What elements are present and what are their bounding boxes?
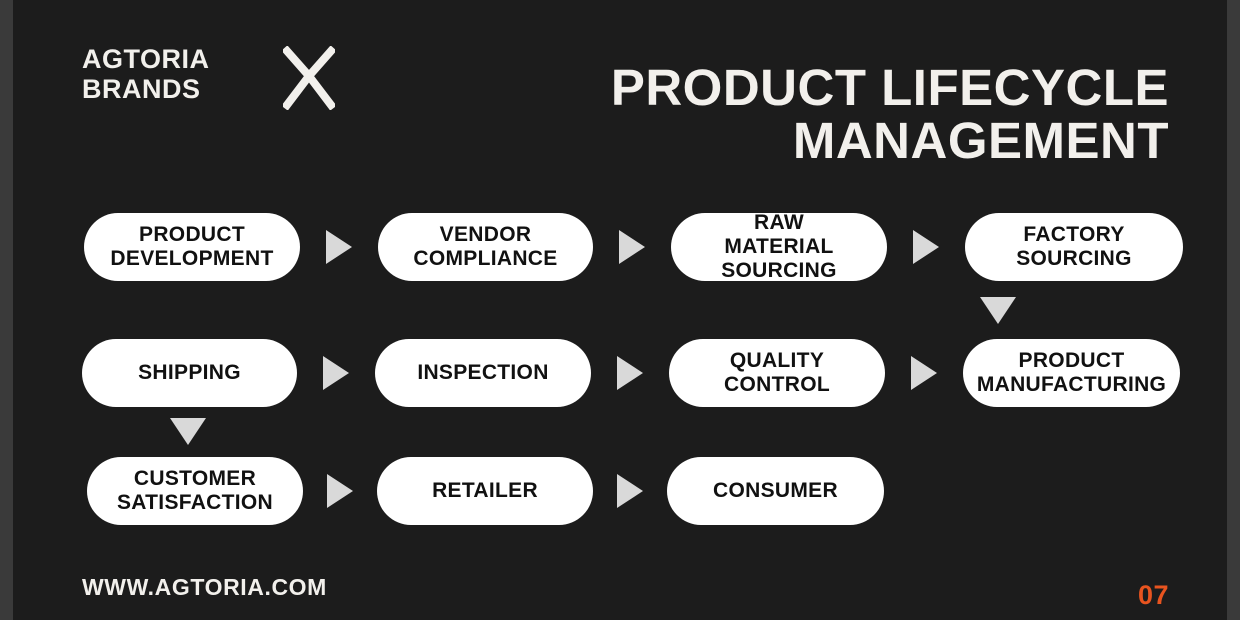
page-title: PRODUCT LIFECYCLE MANAGEMENT xyxy=(409,62,1169,167)
arrow-right-icon xyxy=(911,356,937,390)
flow-row-2: SHIPPING INSPECTION QUALITY CONTROL PROD… xyxy=(82,337,1180,409)
flow-step-shipping[interactable]: SHIPPING xyxy=(82,339,297,407)
arrow-right-icon xyxy=(326,230,352,264)
flow-step-inspection[interactable]: INSPECTION xyxy=(375,339,591,407)
flow-step-label: PRODUCT MANUFACTURING xyxy=(977,349,1166,396)
arrow-right-icon xyxy=(913,230,939,264)
arrow-right-icon xyxy=(327,474,353,508)
flow-step-label: RETAILER xyxy=(432,479,538,503)
arrow-right-icon xyxy=(323,356,349,390)
flow-step-product-development[interactable]: PRODUCT DEVELOPMENT xyxy=(84,213,300,281)
arrow-down-icon xyxy=(170,418,206,445)
flow-step-label: PRODUCT DEVELOPMENT xyxy=(110,223,273,270)
flow-row-1: PRODUCT DEVELOPMENT VENDOR COMPLIANCE RA… xyxy=(84,211,1183,283)
flow-step-label: CONSUMER xyxy=(713,479,838,503)
slide-frame: AGTORIA BRANDS PRODUCT LIFECYCLE MANAGEM… xyxy=(0,0,1240,620)
flow-step-label: QUALITY CONTROL xyxy=(695,349,859,396)
flow-step-label: SHIPPING xyxy=(138,361,241,385)
brand-name: AGTORIA BRANDS xyxy=(82,44,210,104)
flow-step-label: RAW MATERIAL SOURCING xyxy=(697,211,861,282)
flow-step-raw-material-sourcing[interactable]: RAW MATERIAL SOURCING xyxy=(671,213,887,281)
footer-website-url[interactable]: WWW.AGTORIA.COM xyxy=(82,574,327,601)
slide-canvas: AGTORIA BRANDS PRODUCT LIFECYCLE MANAGEM… xyxy=(13,0,1227,620)
flow-step-retailer[interactable]: RETAILER xyxy=(377,457,593,525)
arrow-right-icon xyxy=(619,230,645,264)
flow-step-customer-satisfaction[interactable]: CUSTOMER SATISFACTION xyxy=(87,457,303,525)
arrow-right-icon xyxy=(617,356,643,390)
flow-step-label: VENDOR COMPLIANCE xyxy=(413,223,557,270)
flow-step-label: CUSTOMER SATISFACTION xyxy=(117,467,273,514)
flow-step-vendor-compliance[interactable]: VENDOR COMPLIANCE xyxy=(378,213,593,281)
flow-step-label: FACTORY SOURCING xyxy=(991,223,1157,270)
brand-lockup: AGTORIA BRANDS xyxy=(82,44,335,110)
arrow-down-icon xyxy=(980,297,1016,324)
page-number: 07 xyxy=(1138,580,1169,611)
flow-step-label: INSPECTION xyxy=(417,361,548,385)
x-chevron-logo-icon xyxy=(283,46,335,110)
flow-step-product-manufacturing[interactable]: PRODUCT MANUFACTURING xyxy=(963,339,1180,407)
flow-step-quality-control[interactable]: QUALITY CONTROL xyxy=(669,339,885,407)
flow-step-consumer[interactable]: CONSUMER xyxy=(667,457,884,525)
flow-step-factory-sourcing[interactable]: FACTORY SOURCING xyxy=(965,213,1183,281)
arrow-right-icon xyxy=(617,474,643,508)
flow-row-3: CUSTOMER SATISFACTION RETAILER CONSUMER xyxy=(87,455,884,527)
